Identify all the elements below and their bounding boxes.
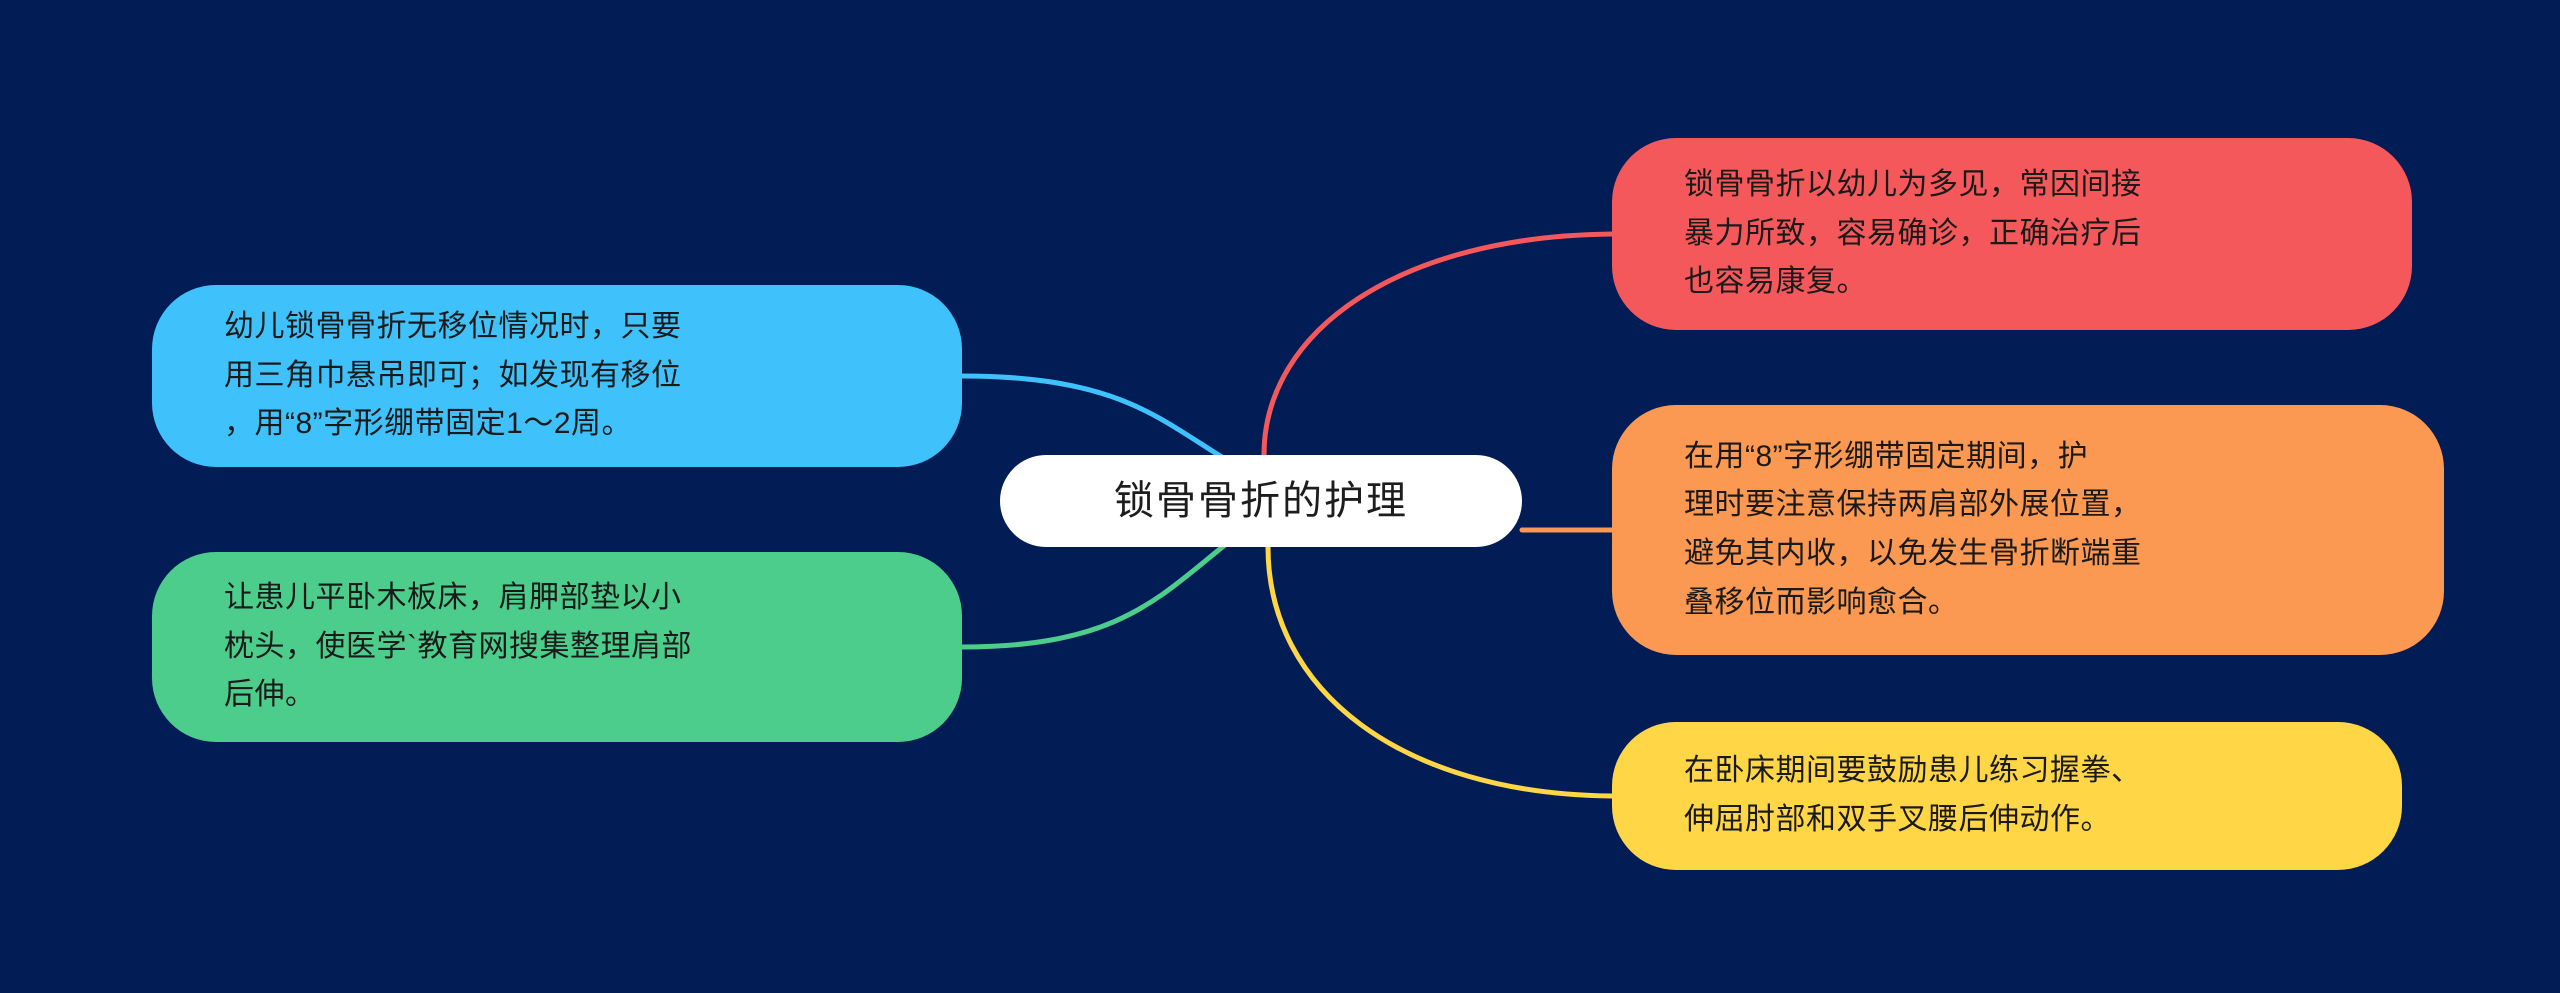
- branch-node-blue[interactable]: 幼儿锁骨骨折无移位情况时，只要 用三角巾悬吊即可；如发现有移位 ，用“8”字形绷…: [152, 285, 962, 467]
- branch-node-orange-text: 在用“8”字形绷带固定期间，护 理时要注意保持两肩部外展位置， 避免其内收，以免…: [1684, 433, 2384, 627]
- connector-yellow: [1268, 547, 1612, 796]
- branch-node-red[interactable]: 锁骨骨折以幼儿为多见，常因间接 暴力所致，容易确诊，正确治疗后 也容易康复。: [1612, 138, 2412, 330]
- mindmap-canvas: 幼儿锁骨骨折无移位情况时，只要 用三角巾悬吊即可；如发现有移位 ，用“8”字形绷…: [0, 0, 2560, 993]
- branch-node-green[interactable]: 让患儿平卧木板床，肩胛部垫以小 枕头，使医学`教育网搜集整理肩部 后伸。: [152, 552, 962, 742]
- root-node[interactable]: 锁骨骨折的护理: [1000, 455, 1522, 547]
- branch-node-orange[interactable]: 在用“8”字形绷带固定期间，护 理时要注意保持两肩部外展位置， 避免其内收，以免…: [1612, 405, 2444, 655]
- branch-node-yellow-text: 在卧床期间要鼓励患儿练习握拳、 伸屈肘部和双手叉腰后伸动作。: [1684, 747, 2342, 844]
- connector-red: [1264, 234, 1612, 455]
- branch-node-yellow[interactable]: 在卧床期间要鼓励患儿练习握拳、 伸屈肘部和双手叉腰后伸动作。: [1612, 722, 2402, 870]
- root-node-label: 锁骨骨折的护理: [1000, 477, 1522, 525]
- branch-node-red-text: 锁骨骨折以幼儿为多见，常因间接 暴力所致，容易确诊，正确治疗后 也容易康复。: [1684, 161, 2352, 307]
- branch-node-green-text: 让患儿平卧木板床，肩胛部垫以小 枕头，使医学`教育网搜集整理肩部 后伸。: [224, 574, 898, 720]
- branch-node-blue-text: 幼儿锁骨骨折无移位情况时，只要 用三角巾悬吊即可；如发现有移位 ，用“8”字形绷…: [224, 303, 898, 449]
- connector-green: [962, 541, 1230, 647]
- connector-blue: [962, 376, 1230, 462]
